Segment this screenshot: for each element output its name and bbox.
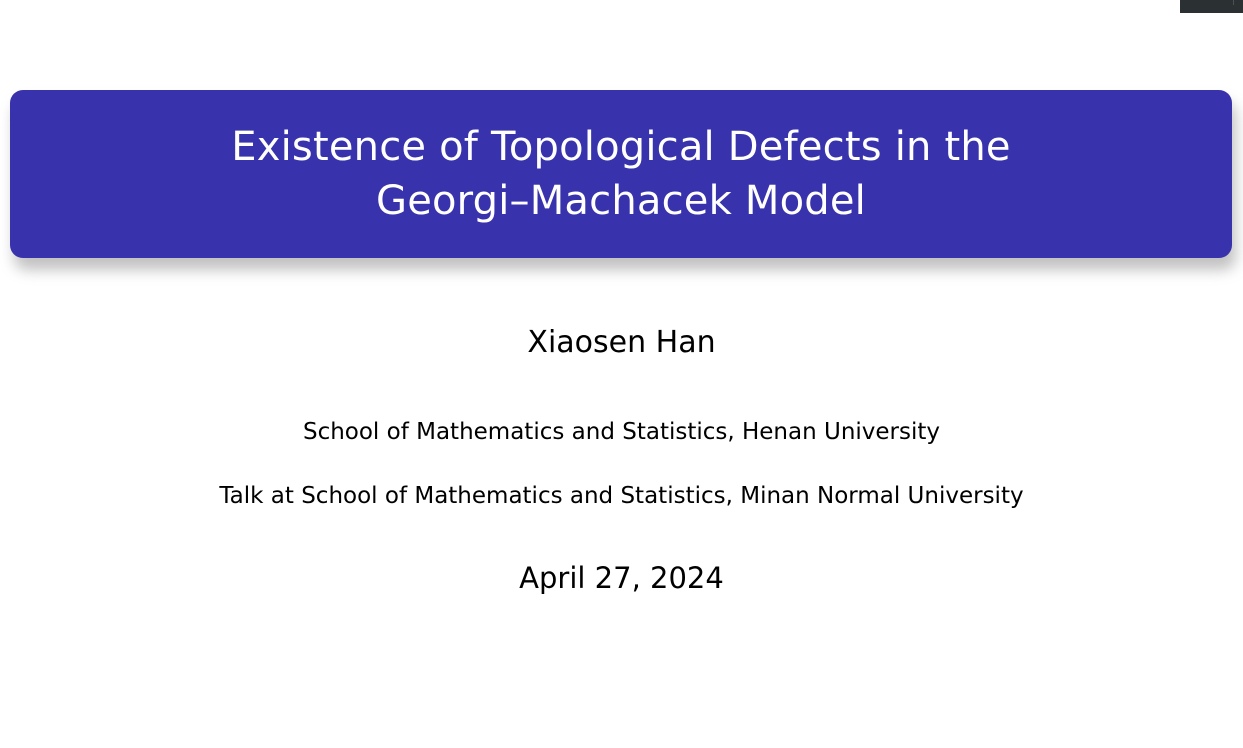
affiliation-line-2: Talk at School of Mathematics and Statis… — [0, 481, 1243, 511]
slide-title-line-2: Georgi–Machacek Model — [376, 174, 866, 228]
toolbar-tick-mark — [1233, 0, 1234, 5]
title-block-panel: Existence of Topological Defects in the … — [10, 90, 1232, 258]
title-block: Existence of Topological Defects in the … — [10, 90, 1232, 258]
slide-title-line-1: Existence of Topological Defects in the — [231, 120, 1010, 174]
presentation-slide: Existence of Topological Defects in the … — [0, 0, 1243, 748]
window-toolbar-fragment — [1180, 0, 1243, 13]
author-name: Xiaosen Han — [0, 324, 1243, 362]
presentation-date: April 27, 2024 — [0, 559, 1243, 597]
affiliation-line-1: School of Mathematics and Statistics, He… — [0, 417, 1243, 447]
